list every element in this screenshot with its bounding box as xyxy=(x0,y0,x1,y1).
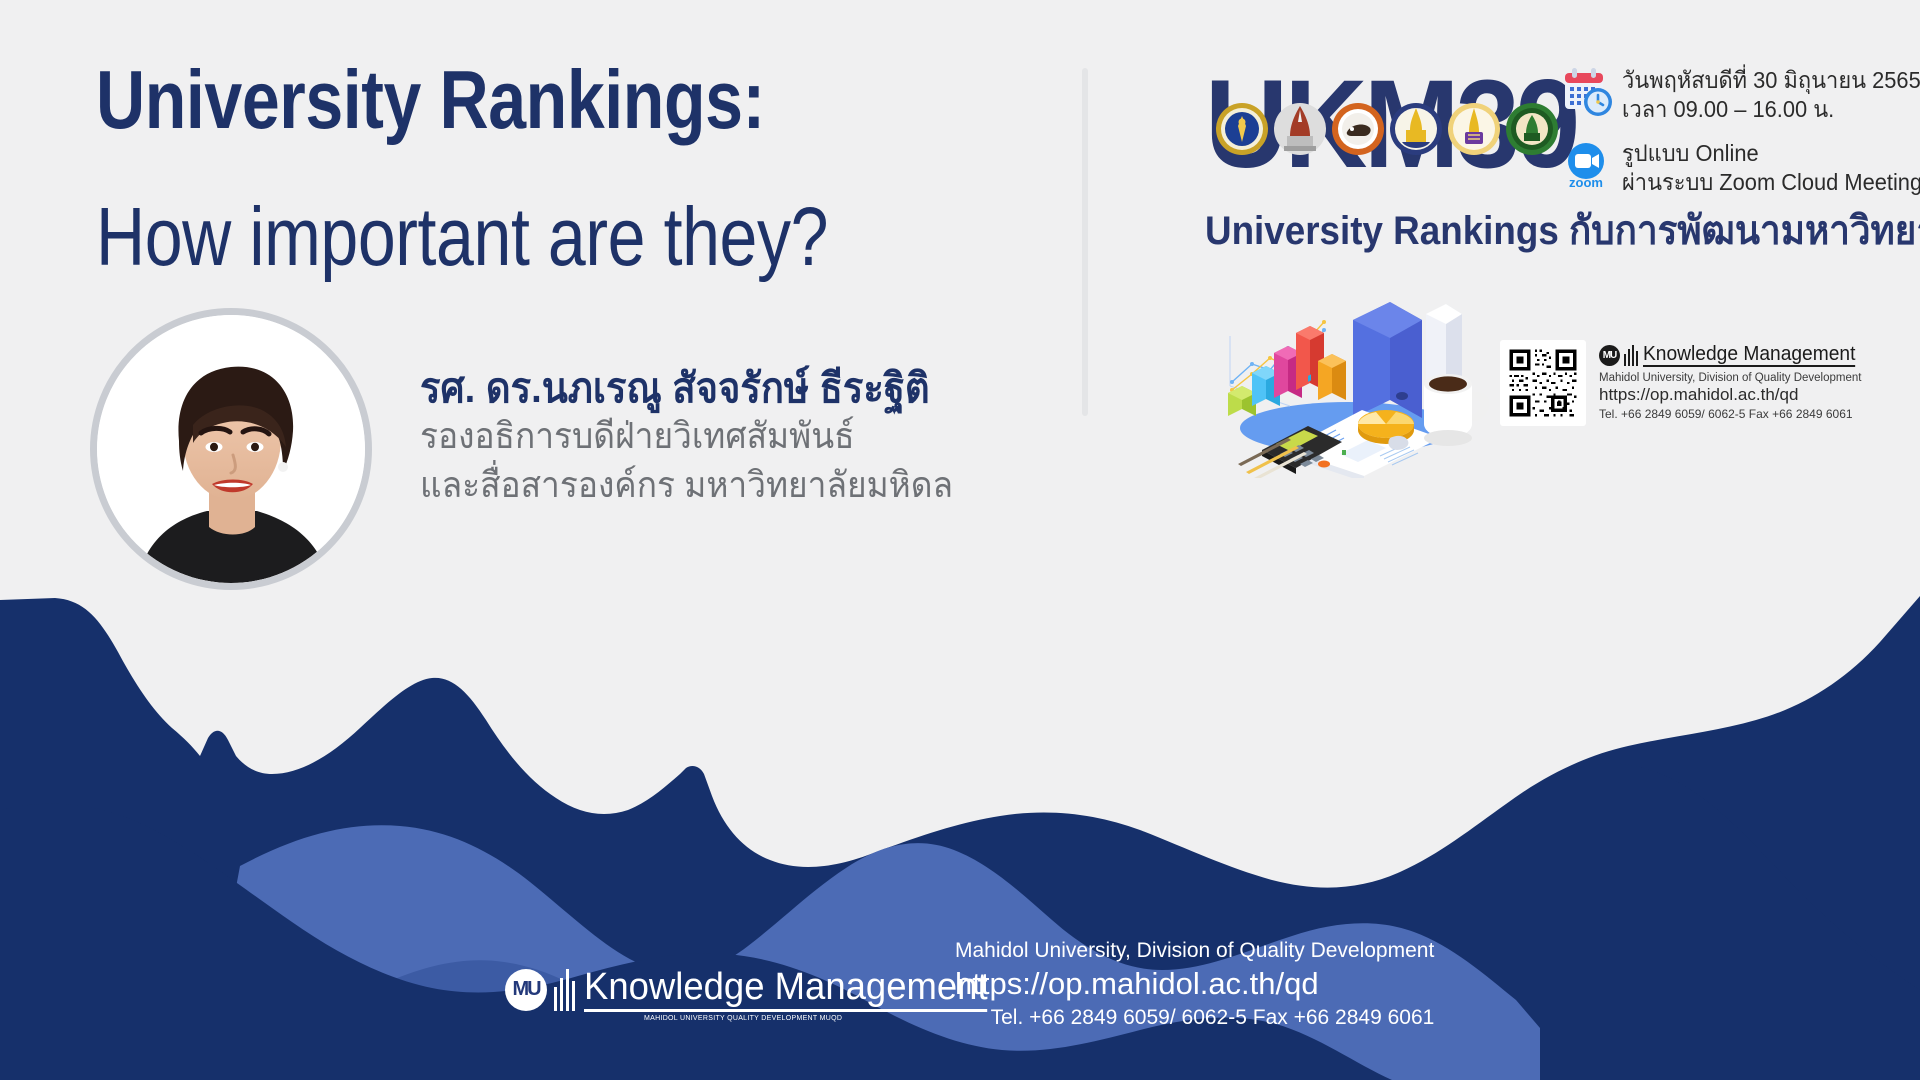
footer-brand-tagline: MAHIDOL UNIVERSITY QUALITY DEVELOPMENT M… xyxy=(644,1015,842,1022)
mu-badge-icon: MU xyxy=(1599,345,1620,366)
footer-mu-badge-icon: MU xyxy=(505,969,547,1011)
footer: MU Knowledge Management MAHIDOL UNIVERSI… xyxy=(0,920,1920,1080)
event-date: วันพฤหัสบดีที่ 30 มิถุนายน 2565 xyxy=(1622,66,1920,95)
zoom-video-icon: zoom xyxy=(1560,137,1616,193)
speaker-block: รศ. ดร.นภเรณู สัจจรักษ์ ธีระฐิติ รองอธิก… xyxy=(90,308,993,590)
page-title-line-1: University Rankings: xyxy=(96,58,875,143)
poster-canvas: University Rankings: How important are t… xyxy=(0,0,1920,1080)
event-platform-lines: รูปแบบ Online ผ่านระบบ Zoom Cloud Meetin… xyxy=(1622,137,1920,198)
speaker-text: รศ. ดร.นภเรณู สัจจรักษ์ ธีระฐิติ รองอธิก… xyxy=(420,364,993,510)
seal-university-4 xyxy=(1389,102,1443,156)
speaker-role-line-2: และสื่อสารองค์กร มหาวิทยาลัยมหิดล xyxy=(420,461,953,510)
seal-university-5 xyxy=(1447,102,1501,156)
footer-mu-badge-label: MU xyxy=(512,978,539,1001)
avatar xyxy=(90,308,372,590)
vertical-divider xyxy=(1082,68,1088,416)
qr-code[interactable] xyxy=(1500,340,1586,426)
event-format: รูปแบบ Online xyxy=(1622,139,1920,168)
event-meta: วันพฤหัสบดีที่ 30 มิถุนายน 2565 เวลา 09.… xyxy=(1560,64,1920,210)
footer-km-bars-icon xyxy=(554,969,575,1011)
qr-org-line: Mahidol University, Division of Quality … xyxy=(1599,372,1864,384)
footer-contact: Mahidol University, Division of Quality … xyxy=(955,939,1434,1030)
event-date-row: วันพฤหัสบดีที่ 30 มิถุนายน 2565 เวลา 09.… xyxy=(1560,64,1920,125)
km-brand-name: Knowledge Management xyxy=(1643,343,1855,367)
event-date-lines: วันพฤหัสบดีที่ 30 มิถุนายน 2565 เวลา 09.… xyxy=(1622,64,1920,125)
km-bars-icon xyxy=(1624,345,1638,366)
footer-km-logo: MU Knowledge Management MAHIDOL UNIVERSI… xyxy=(505,967,1004,1012)
event-time: เวลา 09.00 – 16.00 น. xyxy=(1622,95,1920,124)
isometric-data-analytics-illustration xyxy=(1190,278,1500,478)
footer-brand-name: Knowledge Management xyxy=(584,967,988,1012)
university-seals xyxy=(1215,102,1559,156)
event-logo-row: UKM39 xyxy=(1205,58,1905,188)
qr-info: MU Knowledge Management Mahidol Universi… xyxy=(1599,340,1864,421)
seal-university-3 xyxy=(1331,102,1385,156)
event-platform: ผ่านระบบ Zoom Cloud Meeting xyxy=(1622,168,1920,197)
event-info-column: UKM39 xyxy=(1205,58,1905,262)
event-subtitle: University Rankings กับการพัฒนามหาวิทยาล… xyxy=(1205,198,1849,262)
coffee-mug xyxy=(1424,374,1489,446)
title-block: University Rankings: How important are t… xyxy=(96,58,1046,279)
footer-url[interactable]: https://op.mahidol.ac.th/qd xyxy=(955,966,1434,1002)
seal-university-6 xyxy=(1505,102,1559,156)
seal-university-2 xyxy=(1273,102,1327,156)
portrait-photo xyxy=(97,315,365,583)
speaker-role-line-1: รองอธิการบดีฝ่ายวิเทศสัมพันธ์ xyxy=(420,412,953,461)
page-title-line-2: How important are they? xyxy=(96,195,875,280)
km-logo: MU Knowledge Management xyxy=(1599,343,1864,367)
qr-tel: Tel. +66 2849 6059/ 6062-5 Fax +66 2849 … xyxy=(1599,407,1864,421)
speaker-name: รศ. ดร.นภเรณู สัจจรักษ์ ธีระฐิติ xyxy=(420,364,953,412)
mu-badge-label: MU xyxy=(1603,350,1617,361)
svg-text:zoom: zoom xyxy=(1569,175,1603,190)
seal-university-1 xyxy=(1215,102,1269,156)
footer-tel: Tel. +66 2849 6059/ 6062-5 Fax +66 2849 … xyxy=(955,1006,1434,1030)
calendar-clock-icon xyxy=(1560,64,1616,120)
qr-contact-block: MU Knowledge Management Mahidol Universi… xyxy=(1500,340,1864,426)
footer-org-line: Mahidol University, Division of Quality … xyxy=(955,939,1434,963)
qr-url[interactable]: https://op.mahidol.ac.th/qd xyxy=(1599,385,1864,405)
event-platform-row: zoom รูปแบบ Online ผ่านระบบ Zoom Cloud M… xyxy=(1560,137,1920,198)
